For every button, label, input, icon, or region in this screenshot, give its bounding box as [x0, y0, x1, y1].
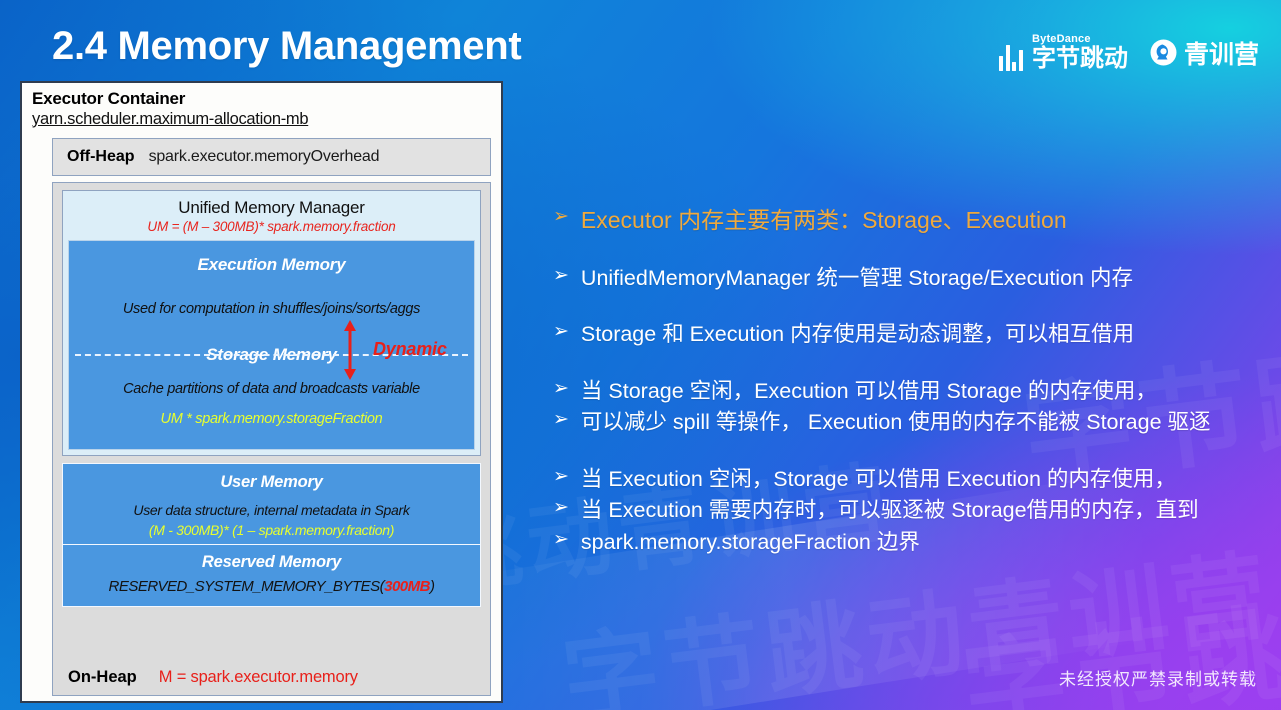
bullet-list: ➢Executor 内存主要有两类：Storage、Execution➢Unif…: [553, 204, 1269, 583]
dynamic-double-arrow-icon: [335, 319, 365, 381]
bytedance-logo-chinese: 字节跳动: [1032, 47, 1128, 71]
bullet-arrow-icon: ➢: [553, 319, 569, 345]
off-heap-value: spark.executor.memoryOverhead: [149, 148, 380, 166]
unified-memory-manager-title: Unified Memory Manager: [68, 198, 475, 218]
bullet-group: ➢Storage 和 Execution 内存使用是动态调整，可以相互借用: [553, 319, 1269, 350]
bullet-group: ➢Executor 内存主要有两类：Storage、Execution: [553, 204, 1269, 237]
bytedance-logo: ByteDance 字节跳动: [999, 34, 1128, 71]
bytedance-bars-icon: [999, 45, 1023, 71]
bullet-arrow-icon: ➢: [553, 495, 569, 521]
bullet-text: spark.memory.storageFraction 边界: [581, 527, 920, 558]
bullet-item: ➢spark.memory.storageFraction 边界: [553, 527, 1269, 558]
bytedance-logo-english: ByteDance: [1032, 34, 1128, 45]
on-heap-container: Unified Memory Manager UM = (M – 300MB)*…: [52, 182, 491, 696]
copyright-notice: 未经授权严禁录制或转载: [1059, 665, 1257, 690]
bullet-arrow-icon: ➢: [553, 527, 569, 553]
reserved-memory-desc-prefix: RESERVED_SYSTEM_MEMORY_BYTES(: [109, 578, 385, 595]
executor-container-title: Executor Container: [32, 89, 501, 109]
dynamic-label: Dynamic: [373, 339, 447, 360]
execution-memory-description: Used for computation in shuffles/joins/s…: [69, 301, 474, 317]
bullet-group: ➢当 Execution 空闲，Storage 可以借用 Execution 的…: [553, 464, 1269, 558]
user-memory-description: User data structure, internal metadata i…: [63, 502, 480, 518]
bullet-arrow-icon: ➢: [553, 376, 569, 402]
on-heap-row: On-Heap M = spark.executor.memory: [62, 668, 481, 687]
bullet-item: ➢当 Storage 空闲，Execution 可以借用 Storage 的内存…: [553, 376, 1269, 407]
storage-memory-formula: UM * spark.memory.storageFraction: [69, 411, 474, 427]
bullet-item: ➢当 Execution 需要内存时，可以驱逐被 Storage借用的内存，直到: [553, 495, 1269, 526]
bullet-text: UnifiedMemoryManager 统一管理 Storage/Execut…: [581, 263, 1133, 294]
user-memory-block: User Memory User data structure, interna…: [62, 463, 481, 545]
reserved-memory-description: RESERVED_SYSTEM_MEMORY_BYTES(300MB): [63, 578, 480, 595]
yarn-config-label: yarn.scheduler.maximum-allocation-mb: [32, 110, 501, 129]
bullet-item: ➢UnifiedMemoryManager 统一管理 Storage/Execu…: [553, 263, 1269, 294]
on-heap-value: M = spark.executor.memory: [159, 668, 358, 687]
bytedance-logo-text: ByteDance 字节跳动: [1032, 34, 1128, 71]
memory-diagram: Executor Container yarn.scheduler.maximu…: [20, 81, 503, 703]
off-heap-row: Off-Heap spark.executor.memoryOverhead: [52, 138, 491, 176]
bullet-item: ➢Executor 内存主要有两类：Storage、Execution: [553, 204, 1269, 237]
bullet-text: 当 Storage 空闲，Execution 可以借用 Storage 的内存使…: [581, 376, 1157, 407]
user-memory-formula: (M - 300MB)* (1 – spark.memory.fraction): [63, 522, 480, 538]
bullet-group: ➢UnifiedMemoryManager 统一管理 Storage/Execu…: [553, 263, 1269, 294]
bullet-text: Executor 内存主要有两类：Storage、Execution: [581, 204, 1067, 237]
bullet-item: ➢可以减少 spill 等操作， Execution 使用的内存不能被 Stor…: [553, 407, 1269, 438]
qingxunying-mark-icon: [1150, 39, 1177, 66]
reserved-memory-title: Reserved Memory: [63, 545, 480, 572]
bullet-text: 当 Execution 空闲，Storage 可以借用 Execution 的内…: [581, 464, 1176, 495]
bullet-arrow-icon: ➢: [553, 263, 569, 289]
off-heap-label: Off-Heap: [67, 148, 135, 166]
on-heap-label: On-Heap: [68, 668, 137, 687]
unified-memory-manager-formula: UM = (M – 300MB)* spark.memory.fraction: [68, 219, 475, 234]
bullet-text: 可以减少 spill 等操作， Execution 使用的内存不能被 Stora…: [581, 407, 1211, 438]
bullet-arrow-icon: ➢: [553, 407, 569, 433]
bullet-item: ➢当 Execution 空闲，Storage 可以借用 Execution 的…: [553, 464, 1269, 495]
bullet-arrow-icon: ➢: [553, 464, 569, 490]
qingxunying-logo: 青训营: [1150, 35, 1259, 71]
bullet-item: ➢Storage 和 Execution 内存使用是动态调整，可以相互借用: [553, 319, 1269, 350]
page-title: 2.4 Memory Management: [52, 24, 521, 69]
bullet-text: Storage 和 Execution 内存使用是动态调整，可以相互借用: [581, 319, 1134, 350]
execution-memory-title: Execution Memory: [69, 241, 474, 275]
qingxunying-logo-chinese: 青训营: [1184, 35, 1259, 71]
bullet-arrow-icon: ➢: [553, 204, 569, 230]
user-memory-title: User Memory: [63, 464, 480, 492]
unified-memory-manager-box: Unified Memory Manager UM = (M – 300MB)*…: [62, 190, 481, 456]
execution-storage-block: Execution Memory Used for computation in…: [68, 240, 475, 450]
bullet-text: 当 Execution 需要内存时，可以驱逐被 Storage借用的内存，直到: [581, 495, 1199, 526]
reserved-memory-block: Reserved Memory RESERVED_SYSTEM_MEMORY_B…: [62, 545, 481, 607]
reserved-memory-highlight: 300MB: [384, 578, 430, 595]
slide-root: 字节跳动青训营 字节跳动青训营 字节跳动青训营 字节跳动青训营 2.4 Memo…: [0, 0, 1281, 710]
bullet-group: ➢当 Storage 空闲，Execution 可以借用 Storage 的内存…: [553, 376, 1269, 438]
reserved-memory-desc-suffix: ): [430, 578, 435, 595]
logo-group: ByteDance 字节跳动 青训营: [999, 34, 1259, 71]
dynamic-arrow-group: Dynamic: [335, 319, 505, 389]
